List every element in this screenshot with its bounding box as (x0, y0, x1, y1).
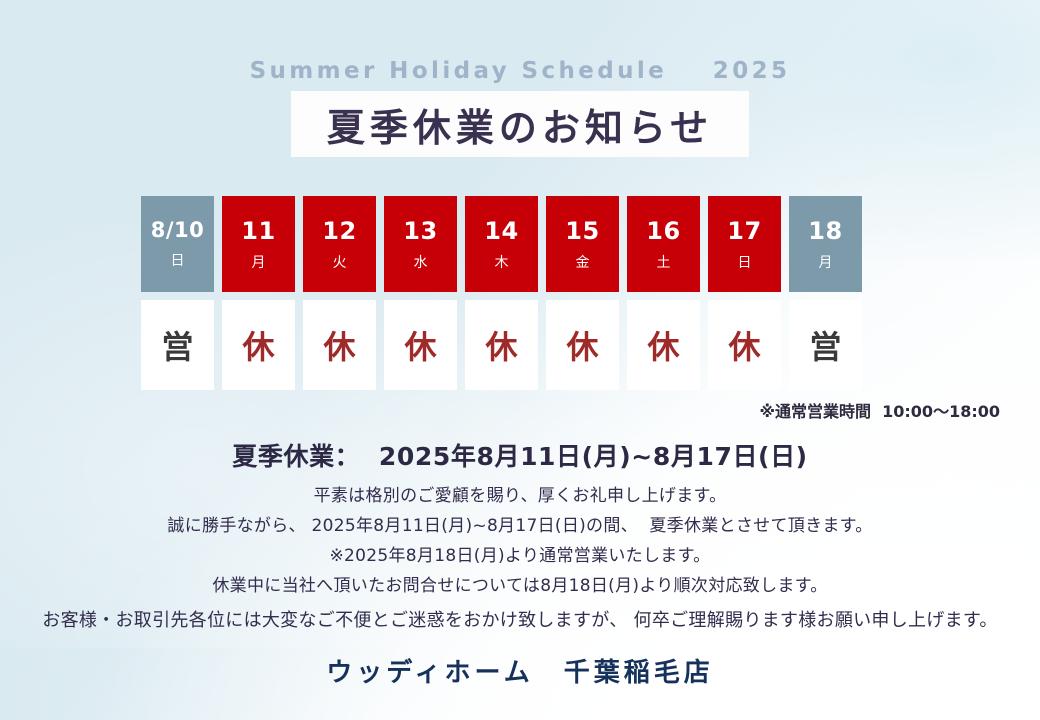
body-line-1: 平素は格別のご愛顧を賜り、厚くお礼申し上げます。 (0, 481, 1040, 506)
calendar-day-of-week: 日 (171, 254, 185, 268)
calendar-status-cell: 休 (303, 300, 376, 390)
calendar-date-cell: 18月 (789, 196, 862, 292)
company-name: ウッディホーム 千葉稲毛店 (0, 652, 1040, 689)
calendar-day-of-week: 火 (333, 256, 347, 270)
calendar-day-of-week: 月 (819, 256, 833, 270)
calendar-date-cell: 12火 (303, 196, 376, 292)
calendar-day-column: 13水休 (384, 196, 457, 390)
calendar-day-column: 15金休 (546, 196, 619, 390)
business-hours-note: ※通常営業時間 10:00〜18:00 (759, 398, 1000, 422)
calendar-date-number: 11 (241, 219, 275, 243)
calendar-day-column: 14木休 (465, 196, 538, 390)
calendar-status-cell: 休 (546, 300, 619, 390)
calendar-day-column: 8/10日営 (141, 196, 214, 390)
calendar-date-cell: 16土 (627, 196, 700, 292)
calendar-day-column: 12火休 (303, 196, 376, 390)
calendar-date-cell: 15金 (546, 196, 619, 292)
body-line-5: お客様・お取引先各位には大変なご不便とご迷惑をおかけ致しますが、 何卒ご理解賜り… (0, 606, 1040, 632)
calendar-status-cell: 休 (384, 300, 457, 390)
calendar-date-cell: 17日 (708, 196, 781, 292)
calendar-day-column: 18月営 (789, 196, 862, 390)
calendar-date-cell: 14木 (465, 196, 538, 292)
calendar-day-of-week: 月 (252, 256, 266, 270)
calendar-date-number: 18 (808, 219, 842, 243)
calendar-status-cell: 休 (627, 300, 700, 390)
calendar-date-number: 14 (484, 219, 518, 243)
calendar-day-of-week: 木 (495, 256, 509, 270)
calendar-date-cell: 13水 (384, 196, 457, 292)
title-box: 夏季休業のお知らせ (291, 91, 749, 157)
calendar-date-cell: 8/10日 (141, 196, 214, 292)
calendar-date-number: 8/10 (151, 220, 205, 241)
calendar-date-number: 16 (646, 219, 680, 243)
calendar-date-number: 13 (403, 219, 437, 243)
holiday-period-heading: 夏季休業： 2025年8月11日(月)~8月17日(日) (0, 437, 1040, 473)
calendar-day-column: 11月休 (222, 196, 295, 390)
body-line-3: ※2025年8月18日(月)より通常営業いたします。 (0, 541, 1040, 566)
calendar-day-of-week: 金 (576, 256, 590, 270)
calendar-status-cell: 営 (141, 300, 214, 390)
calendar-date-cell: 11月 (222, 196, 295, 292)
calendar-status-cell: 営 (789, 300, 862, 390)
body-line-2: 誠に勝手ながら、 2025年8月11日(月)~8月17日(日)の間、 夏季休業と… (0, 511, 1040, 536)
notice-page: Summer Holiday Schedule 2025 夏季休業のお知らせ 8… (0, 0, 1040, 720)
eyebrow-text: Summer Holiday Schedule 2025 (0, 58, 1040, 84)
calendar-date-number: 17 (727, 219, 761, 243)
calendar-status-cell: 休 (708, 300, 781, 390)
calendar-day-column: 16土休 (627, 196, 700, 390)
calendar-day-column: 17日休 (708, 196, 781, 390)
calendar-day-of-week: 土 (657, 256, 671, 270)
calendar-status-cell: 休 (222, 300, 295, 390)
calendar-day-of-week: 水 (414, 256, 428, 270)
calendar-date-number: 15 (565, 219, 599, 243)
calendar-day-of-week: 日 (738, 256, 752, 270)
holiday-calendar: 8/10日営11月休12火休13水休14木休15金休16土休17日休18月営 (141, 196, 878, 390)
page-title: 夏季休業のお知らせ (327, 97, 713, 152)
calendar-date-number: 12 (322, 219, 356, 243)
calendar-status-cell: 休 (465, 300, 538, 390)
body-line-4: 休業中に当社へ頂いたお問合せについては8月18日(月)より順次対応致します。 (0, 571, 1040, 596)
